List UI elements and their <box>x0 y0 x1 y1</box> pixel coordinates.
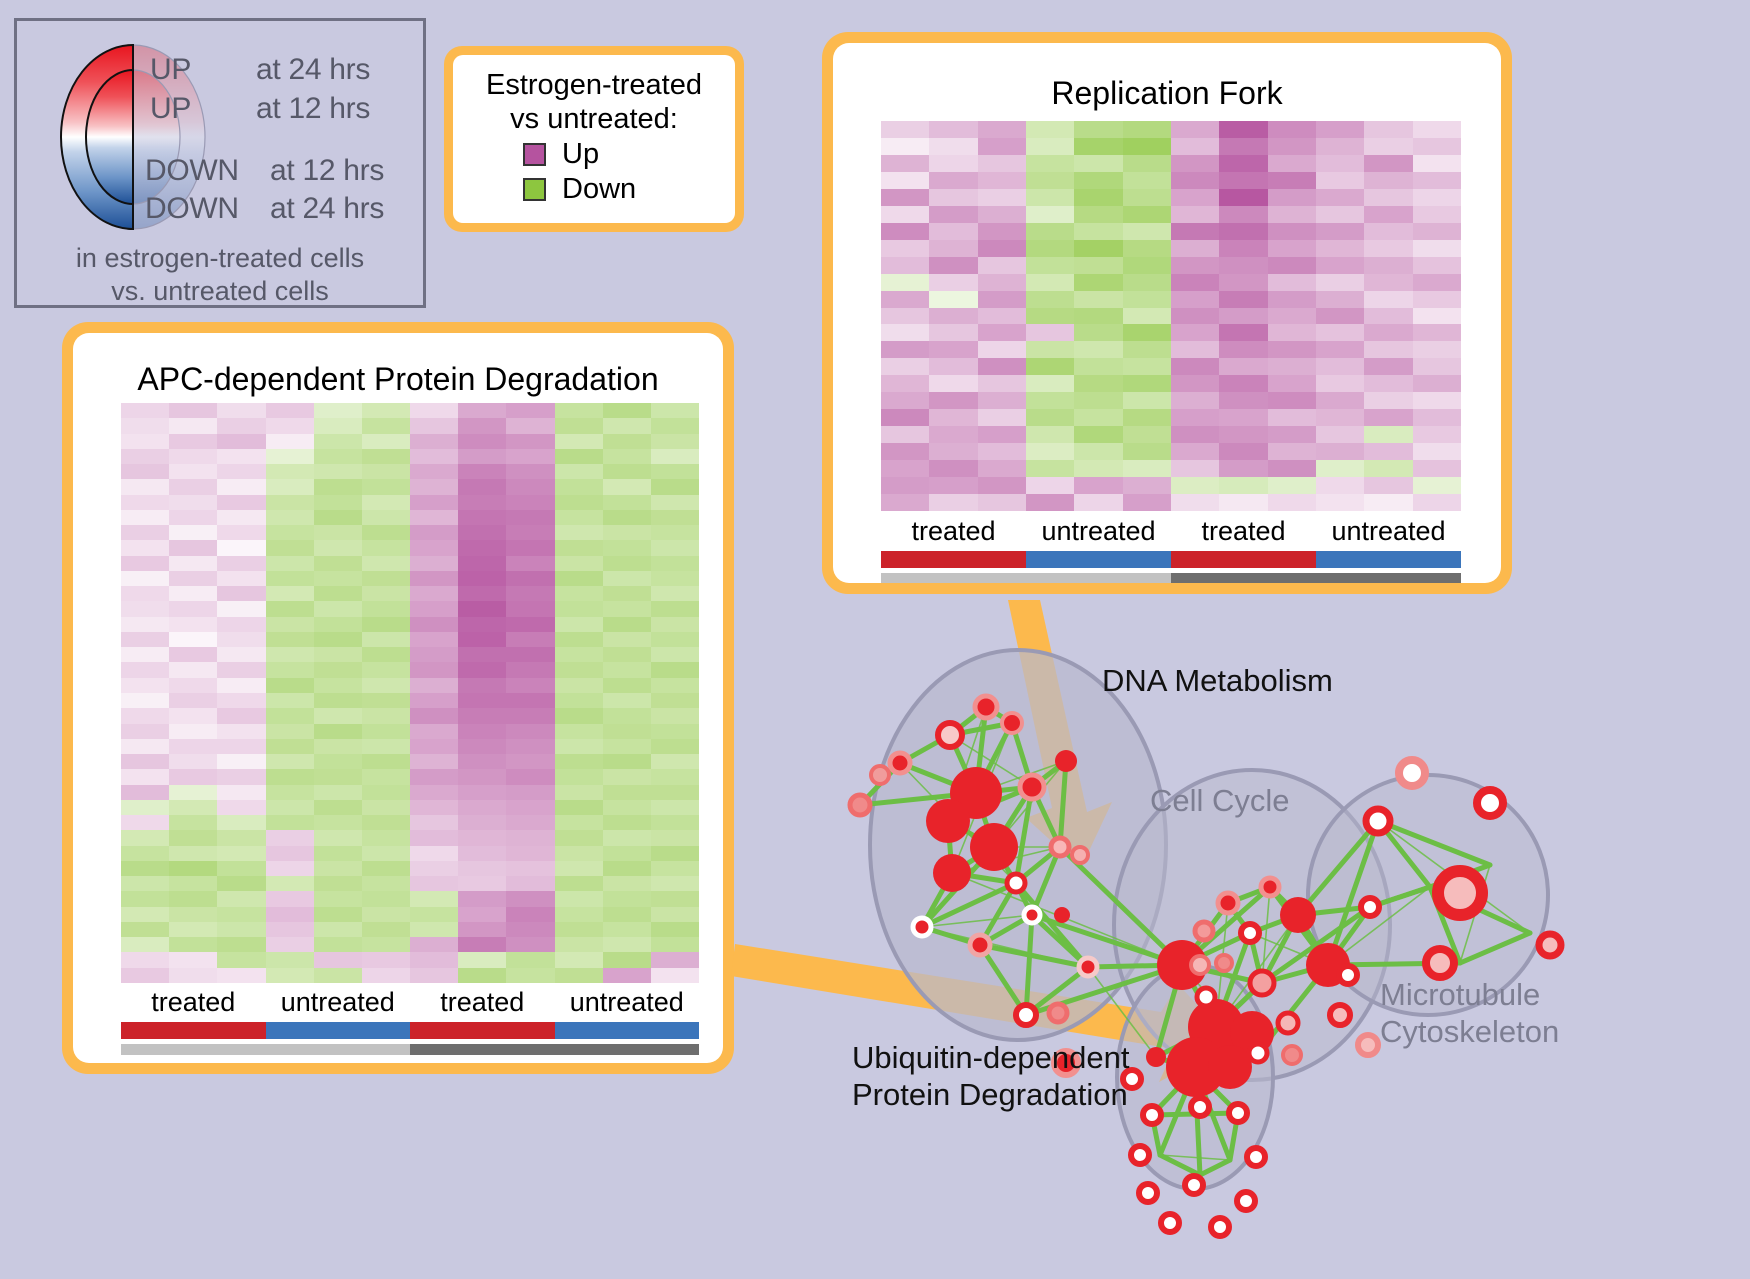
colorwheel-state-1: UP <box>150 92 191 126</box>
heatmap-cell <box>362 662 410 677</box>
heatmap-cell <box>1268 460 1316 477</box>
heatmap-cell <box>1171 494 1219 511</box>
heatmap-cell <box>314 449 362 464</box>
heatmap-cell <box>929 138 977 155</box>
heatmap-cell <box>506 556 554 571</box>
heatmap-cell <box>1123 274 1171 291</box>
figure-canvas: UP at 24 hrs UP at 12 hrs DOWN at 12 hrs… <box>0 0 1750 1279</box>
heatmap-cell <box>362 418 410 433</box>
heatmap-cell <box>651 708 699 723</box>
heatmap-cell <box>1074 257 1122 274</box>
heatmap-cell <box>555 418 603 433</box>
heatmap-cell <box>929 223 977 240</box>
heatmap-cell <box>881 206 929 223</box>
heatmap-cell <box>881 409 929 426</box>
heatmap-cell <box>458 907 506 922</box>
heatmap-cell <box>266 510 314 525</box>
heatmap-cell <box>603 662 651 677</box>
heatmap-cell <box>1171 257 1219 274</box>
heatmap-cell <box>169 846 217 861</box>
condition-segment-untreated-24 <box>1316 551 1461 568</box>
heatmap-cell <box>1268 392 1316 409</box>
heatmap-cell <box>458 785 506 800</box>
network-node <box>926 799 970 843</box>
heatmap-cell <box>1413 341 1461 358</box>
heatmap-cell <box>555 800 603 815</box>
heatmap-cell <box>1413 308 1461 325</box>
heatmap-cell <box>169 739 217 754</box>
heatmap-cell <box>314 907 362 922</box>
heatmap-cell <box>555 769 603 784</box>
network-node <box>1054 907 1070 923</box>
heatmap-cell <box>603 571 651 586</box>
heatmap-cell <box>169 632 217 647</box>
heatmap-cell <box>169 937 217 952</box>
colorwheel-legend-box: UP at 24 hrs UP at 12 hrs DOWN at 12 hrs… <box>14 18 426 308</box>
heatmap-cell <box>978 426 1026 443</box>
heatmap-cell <box>314 434 362 449</box>
heatmap-cell <box>1074 426 1122 443</box>
network-node <box>1197 988 1215 1006</box>
heatmap-cell <box>410 510 458 525</box>
heatmap-cell <box>458 434 506 449</box>
heatmap-cell <box>1219 155 1267 172</box>
heatmap-cell <box>1171 240 1219 257</box>
heatmap-cell <box>410 907 458 922</box>
heatmap-cell <box>362 830 410 845</box>
network-node <box>1358 1035 1378 1055</box>
heatmap-cell <box>1123 155 1171 172</box>
network-node <box>1072 847 1088 863</box>
network-node <box>871 766 889 784</box>
heatmap-cell <box>1026 477 1074 494</box>
heatmap-cell <box>881 155 929 172</box>
heatmap-cell <box>266 968 314 983</box>
heatmap-cell <box>1268 477 1316 494</box>
heatmap-cell <box>555 876 603 891</box>
heatmap-cell <box>266 952 314 967</box>
heatmap-cell <box>603 724 651 739</box>
heatmap-cell <box>1123 206 1171 223</box>
heatmap-cell <box>1268 426 1316 443</box>
heatmap-cell <box>506 464 554 479</box>
network-node <box>933 854 971 892</box>
heatmap-cell <box>121 922 169 937</box>
heatmap-cell <box>1026 324 1074 341</box>
heatmap-cell <box>1364 443 1412 460</box>
heatmap-cell <box>217 937 265 952</box>
heatmap-cell <box>266 678 314 693</box>
heatmap-cell <box>506 754 554 769</box>
heatmap-cell <box>362 495 410 510</box>
heatmap-cell <box>1219 274 1267 291</box>
heatmap-cell <box>314 769 362 784</box>
heatmap-cell <box>603 586 651 601</box>
heatmap-cell <box>1074 121 1122 138</box>
heatmap-cell <box>1413 257 1461 274</box>
heatmap-cell <box>651 739 699 754</box>
heatmap-cell <box>506 495 554 510</box>
heatmap-cell <box>458 800 506 815</box>
heatmap-cell <box>929 409 977 426</box>
heatmap-cell <box>266 891 314 906</box>
heatmap-cell <box>217 952 265 967</box>
heatmap-cell <box>217 876 265 891</box>
heatmap-cell <box>458 739 506 754</box>
heatmap-cell <box>121 495 169 510</box>
heatmap-cell <box>121 540 169 555</box>
heatmap-cell <box>1074 274 1122 291</box>
network-node <box>1208 1045 1252 1089</box>
time-segment-24hrs <box>1171 573 1461 583</box>
heatmap-cell <box>314 495 362 510</box>
heatmap-cell <box>651 418 699 433</box>
heatmap-cell <box>1026 375 1074 392</box>
heatmap-cell <box>1413 172 1461 189</box>
network-node <box>1020 775 1044 799</box>
heatmap-cell <box>410 846 458 861</box>
heatmap-cell <box>217 815 265 830</box>
heatmap-cell <box>314 800 362 815</box>
heatmap-cell <box>929 308 977 325</box>
heatmap-cell <box>881 375 929 392</box>
heatmap-cell <box>362 968 410 983</box>
network-node <box>1229 1104 1247 1122</box>
heatmap-cell <box>266 449 314 464</box>
heatmap-replication-fork <box>881 121 1461 511</box>
heatmap-cell <box>169 601 217 616</box>
heatmap-cell <box>169 464 217 479</box>
heatmap-cell <box>169 403 217 418</box>
heatmap-cell <box>506 601 554 616</box>
heatmap-cell <box>217 678 265 693</box>
heatmap-cell <box>121 449 169 464</box>
heatmap-cell <box>1171 324 1219 341</box>
heatmap-cell <box>1413 155 1461 172</box>
heatmap-cell <box>929 189 977 206</box>
heatmap-cell <box>458 693 506 708</box>
heatmap-cell <box>1316 206 1364 223</box>
network-node <box>938 723 962 747</box>
heatmap-cell <box>1364 206 1412 223</box>
heatmap-cell <box>978 172 1026 189</box>
heatmap-cell <box>121 525 169 540</box>
heatmap-cell <box>410 769 458 784</box>
colorwheel-time-3: at 24 hrs <box>270 192 384 226</box>
heatmap-cell <box>929 392 977 409</box>
heatmap-cell <box>603 815 651 830</box>
heatmap-cell <box>1171 291 1219 308</box>
time-label-24hrs: 24 hrs <box>410 1059 699 1063</box>
heatmap-cell <box>362 464 410 479</box>
heatmap-cell <box>555 525 603 540</box>
heatmap-cell <box>1316 494 1364 511</box>
heatmap-cell <box>362 876 410 891</box>
heatmap-cell <box>314 647 362 662</box>
heatmap-cell <box>978 138 1026 155</box>
heatmap-cell <box>978 274 1026 291</box>
heatmap-cell <box>1026 460 1074 477</box>
heatmap-cell <box>266 495 314 510</box>
heatmap-cell <box>169 556 217 571</box>
heatmap-cell <box>1123 189 1171 206</box>
heatmap-cell <box>603 403 651 418</box>
condition-segment-untreated-12 <box>266 1022 411 1039</box>
heatmap-cell <box>410 937 458 952</box>
heatmap-cell <box>458 647 506 662</box>
heatmap-cell <box>314 846 362 861</box>
heatmap-cell <box>1219 240 1267 257</box>
heatmap-cell <box>603 907 651 922</box>
heatmap-cell <box>266 846 314 861</box>
heatmap-cell <box>1074 460 1122 477</box>
heatmap-cell <box>266 647 314 662</box>
group-labels-apc: treated untreated treated untreated <box>121 987 699 1018</box>
heatmap-cell <box>555 708 603 723</box>
heatmap-cell <box>1316 324 1364 341</box>
heatmap-cell <box>266 434 314 449</box>
heatmap-cell <box>978 223 1026 240</box>
heatmap-cell <box>929 121 977 138</box>
heatmap-cell <box>410 495 458 510</box>
heatmap-cell <box>1123 358 1171 375</box>
heatmap-cell <box>410 891 458 906</box>
heatmap-cell <box>121 556 169 571</box>
heatmap-cell <box>1171 206 1219 223</box>
heatmap-cell <box>1268 274 1316 291</box>
time-bar-apc <box>121 1044 699 1055</box>
heatmap-cell <box>555 556 603 571</box>
heatmap-cell <box>1171 443 1219 460</box>
heatmap-cell <box>362 800 410 815</box>
heatmap-cell <box>1026 172 1074 189</box>
group-label-1: untreated <box>266 987 411 1018</box>
heatmap-cell <box>169 586 217 601</box>
heatmap-cell <box>555 785 603 800</box>
heatmap-cell <box>314 922 362 937</box>
network-node <box>1477 790 1503 816</box>
heatmap-cell <box>217 724 265 739</box>
heatmap-cell <box>217 922 265 937</box>
heatmap-cell <box>1268 494 1316 511</box>
heatmap-cell <box>410 830 458 845</box>
heatmap-cell <box>506 525 554 540</box>
heatmap-cell <box>121 754 169 769</box>
heatmap-cell <box>881 341 929 358</box>
network-node <box>1261 878 1279 896</box>
heatmap-cell <box>603 830 651 845</box>
heatmap-cell <box>1074 324 1122 341</box>
heatmap-cell <box>1026 257 1074 274</box>
network-node <box>1191 1098 1209 1116</box>
heatmap-cell <box>314 617 362 632</box>
heatmap-cell <box>266 601 314 616</box>
heatmap-cell <box>121 510 169 525</box>
heatmap-cell <box>362 891 410 906</box>
group-label-2: treated <box>1171 516 1316 547</box>
heatmap-cell <box>217 617 265 632</box>
heatmap-cell <box>217 647 265 662</box>
heatmap-cell <box>458 617 506 632</box>
heatmap-cell <box>458 724 506 739</box>
heatmap-cell <box>266 632 314 647</box>
heatmap-cell <box>217 632 265 647</box>
heatmap-cell <box>555 510 603 525</box>
heatmap-cell <box>266 708 314 723</box>
heatmap-cell <box>410 647 458 662</box>
heatmap-cell <box>410 678 458 693</box>
heatmap-cell <box>169 540 217 555</box>
group-label-1: untreated <box>1026 516 1171 547</box>
heatmap-cell <box>506 647 554 662</box>
heatmap-cell <box>121 586 169 601</box>
heatmap-cell <box>410 708 458 723</box>
heatmap-cell <box>1316 358 1364 375</box>
heatmap-cell <box>555 403 603 418</box>
heatmap-cell <box>217 968 265 983</box>
heatmap-cell <box>651 724 699 739</box>
heatmap-cell <box>881 358 929 375</box>
heatmap-cell <box>1316 291 1364 308</box>
network-node <box>1007 874 1025 892</box>
heatmap-cell <box>410 525 458 540</box>
network-node <box>1002 713 1022 733</box>
heatmap-cell <box>978 240 1026 257</box>
heatmap-cell <box>506 846 554 861</box>
heatmap-cell <box>603 861 651 876</box>
heatmap-cell <box>506 510 554 525</box>
heatmap-cell <box>555 617 603 632</box>
heatmap-cell <box>555 479 603 494</box>
heatmap-cell <box>1219 460 1267 477</box>
heatmap-cell <box>121 464 169 479</box>
heatmap-cell <box>362 632 410 647</box>
heatmap-cell <box>266 479 314 494</box>
heatmap-cell <box>266 693 314 708</box>
heatmap-cell <box>603 510 651 525</box>
heatmap-cell <box>555 830 603 845</box>
heatmap-cell <box>169 525 217 540</box>
heatmap-cell <box>555 861 603 876</box>
heatmap-cell <box>1268 443 1316 460</box>
heatmap-cell <box>266 754 314 769</box>
heatmap-cell <box>603 495 651 510</box>
heatmap-cell <box>314 952 362 967</box>
heatmap-cell <box>121 937 169 952</box>
heatmap-cell <box>1171 189 1219 206</box>
network-node <box>1250 971 1274 995</box>
heatmap-cell <box>555 495 603 510</box>
heatmap-cell <box>169 800 217 815</box>
network-node <box>1247 1148 1265 1166</box>
heatmap-cell <box>929 460 977 477</box>
heatmap-cell <box>603 876 651 891</box>
heatmap-cell <box>314 571 362 586</box>
heatmap-cell <box>555 464 603 479</box>
heatmap-cell <box>314 601 362 616</box>
heatmap-cell <box>881 494 929 511</box>
heatmap-cell <box>1026 155 1074 172</box>
heatmap-cell <box>169 769 217 784</box>
heatmap-cell <box>217 708 265 723</box>
heatmap-cell <box>458 861 506 876</box>
heatmap-cell <box>458 464 506 479</box>
group-label-3: untreated <box>555 987 700 1018</box>
heatmap-cell <box>1268 206 1316 223</box>
heatmap-cell <box>169 724 217 739</box>
heatmap-cell <box>266 662 314 677</box>
heatmap-cell <box>1268 308 1316 325</box>
heatmap-cell <box>217 403 265 418</box>
heatmap-cell <box>1026 409 1074 426</box>
heatmap-cell <box>1074 172 1122 189</box>
heatmap-cell <box>217 418 265 433</box>
heatmap-cell <box>1268 291 1316 308</box>
colorwheel-footer-line-1: in estrogen-treated cells <box>17 242 423 275</box>
heatmap-cell <box>121 876 169 891</box>
heatmap-cell <box>1364 392 1412 409</box>
network-node <box>1051 838 1069 856</box>
heatmap-cell <box>603 891 651 906</box>
heatmap-cell <box>169 907 217 922</box>
heatmap-cell <box>1219 324 1267 341</box>
heatmap-cell <box>1413 206 1461 223</box>
heatmap-cell <box>651 632 699 647</box>
heatmap-cell <box>603 785 651 800</box>
heatmap-cell <box>217 525 265 540</box>
heatmap-cell <box>651 876 699 891</box>
heatmap-cell <box>314 632 362 647</box>
heatmap-cell <box>458 754 506 769</box>
heatmap-cell <box>1268 341 1316 358</box>
heatmap-cell <box>929 274 977 291</box>
heatmap-cell <box>121 846 169 861</box>
heatmap-cell <box>458 830 506 845</box>
heatmap-cell <box>410 556 458 571</box>
heatmap-cell <box>1074 494 1122 511</box>
heatmap-cell <box>121 952 169 967</box>
heatmap-cell <box>217 571 265 586</box>
heatmap-cell <box>603 434 651 449</box>
heatmap-cell <box>169 922 217 937</box>
heatmap-cell <box>603 464 651 479</box>
heatmap-cell <box>458 815 506 830</box>
heatmap-cell <box>1413 138 1461 155</box>
heatmap-cell <box>651 556 699 571</box>
time-segment-12hrs <box>881 573 1171 583</box>
heatmap-cell <box>362 449 410 464</box>
heatmap-cell <box>410 662 458 677</box>
heatmap-cell <box>603 418 651 433</box>
heatmap-cell <box>1268 172 1316 189</box>
heatmap-cell <box>651 525 699 540</box>
heatmap-cell <box>651 678 699 693</box>
heatmap-cell <box>1219 477 1267 494</box>
heatmap-cell <box>458 510 506 525</box>
heatmap-cell <box>1316 257 1364 274</box>
heatmap-cell <box>362 846 410 861</box>
heatmap-cell <box>1171 274 1219 291</box>
heatmap-cell <box>1171 477 1219 494</box>
heatmap-cell <box>266 403 314 418</box>
heatmap-cell <box>978 155 1026 172</box>
network-node <box>1399 760 1425 786</box>
heatmap-cell <box>1364 274 1412 291</box>
heatmap-cell <box>410 403 458 418</box>
heatmap-cell <box>978 341 1026 358</box>
heatmap-cell <box>1123 494 1171 511</box>
heatmap-cell <box>362 754 410 769</box>
